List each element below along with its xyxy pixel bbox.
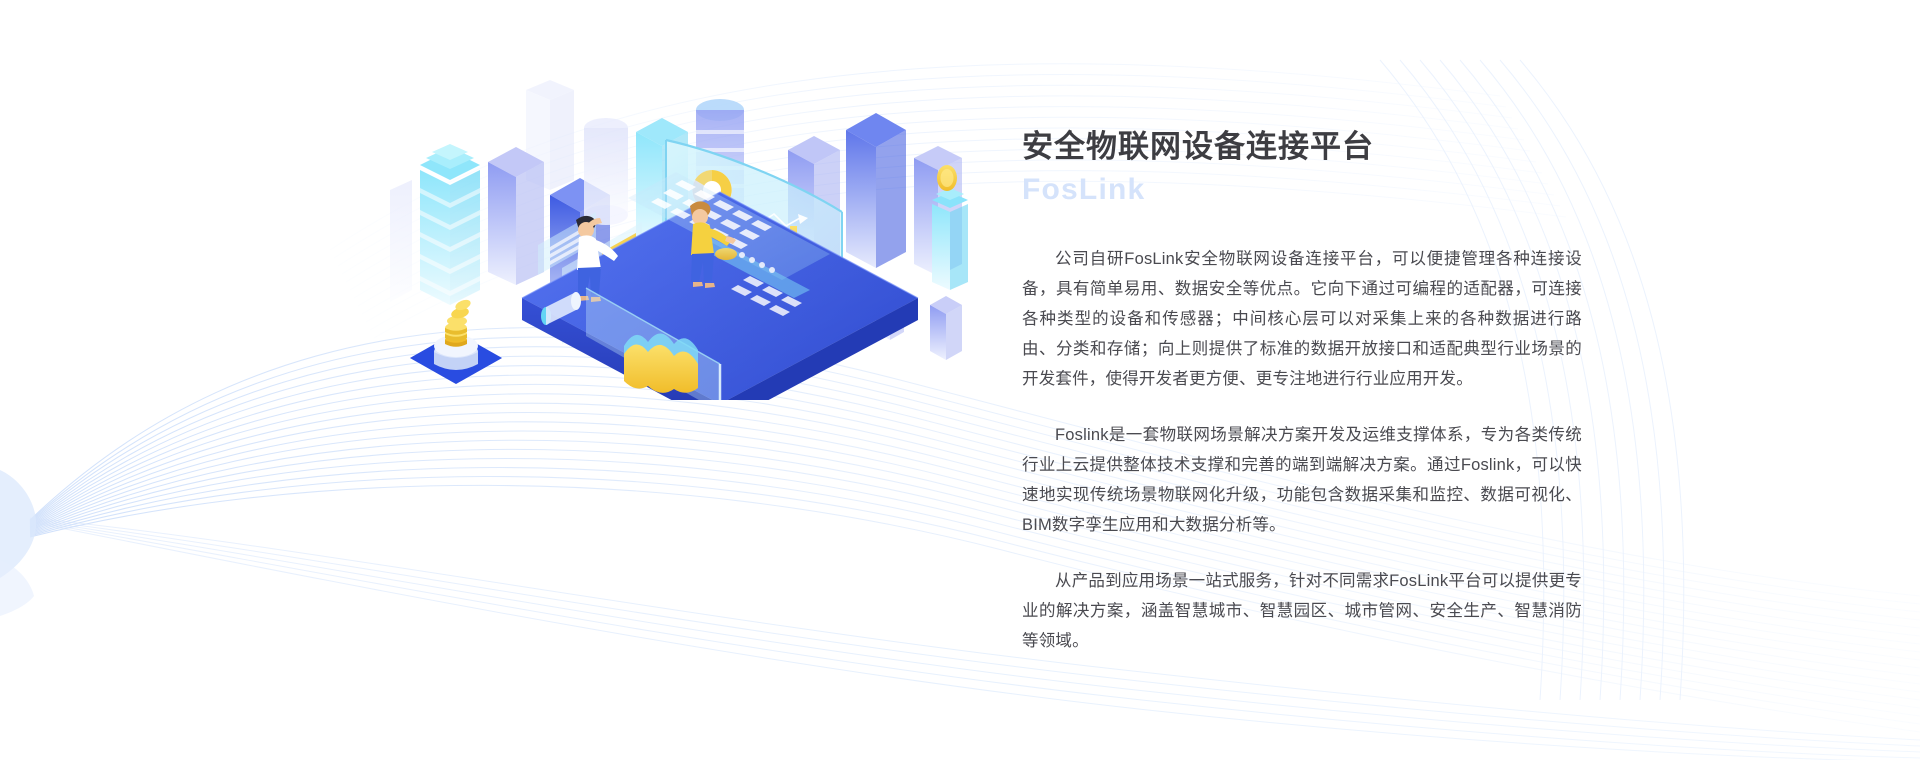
description-block: 公司自研FosLink安全物联网设备连接平台，可以便捷管理各种连接设备，具有简单… xyxy=(1022,244,1582,656)
building-violet-slab xyxy=(488,147,544,285)
building-pale-cylinder xyxy=(584,118,628,225)
hero-page: 安全物联网设备连接平台 FosLink 公司自研FosLink安全物联网设备连接… xyxy=(0,0,1920,760)
hero-text-column: 安全物联网设备连接平台 FosLink 公司自研FosLink安全物联网设备连接… xyxy=(1022,128,1582,656)
isometric-iot-illustration xyxy=(390,40,990,400)
paragraph-2: Foslink是一套物联网场景解决方案开发及运维支撑体系，专为各类传统行业上云提… xyxy=(1022,420,1582,540)
paragraph-1: 公司自研FosLink安全物联网设备连接平台，可以便捷管理各种连接设备，具有简单… xyxy=(1022,244,1582,394)
page-title: 安全物联网设备连接平台 xyxy=(1022,128,1582,167)
paragraph-3: 从产品到应用场景一站式服务，针对不同需求FosLink平台可以提供更专业的解决方… xyxy=(1022,566,1582,656)
page-subtitle: FosLink xyxy=(1022,171,1582,209)
building-stepped-cyan xyxy=(420,144,480,305)
coin-right xyxy=(937,165,957,191)
coin-podium xyxy=(410,298,502,384)
